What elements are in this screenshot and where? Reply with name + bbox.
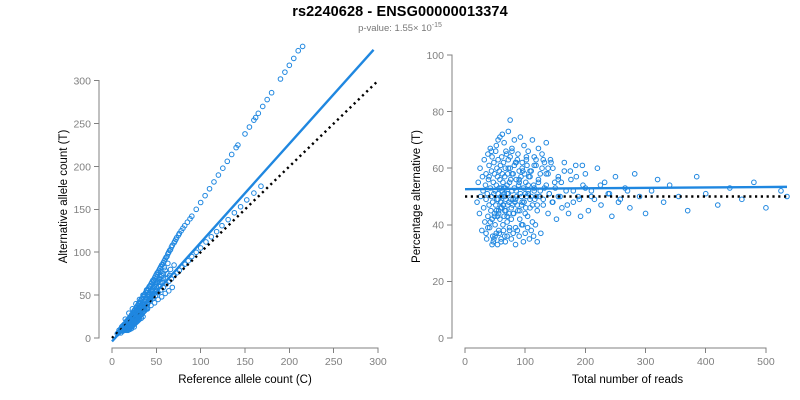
data-point <box>481 206 486 211</box>
data-point <box>287 63 292 68</box>
data-point <box>541 197 546 202</box>
y-tick-label: 200 <box>73 161 91 173</box>
data-point <box>523 191 528 196</box>
data-point <box>524 155 529 160</box>
data-point <box>209 235 214 240</box>
data-point <box>610 214 615 219</box>
data-point <box>752 180 757 185</box>
plot-area <box>112 0 378 341</box>
data-points <box>475 118 790 247</box>
x-tick-label: 300 <box>637 356 655 368</box>
data-point <box>551 166 556 171</box>
fit-line <box>465 187 787 189</box>
x-tick-label: 0 <box>462 356 468 368</box>
x-axis-line <box>465 348 766 353</box>
data-point <box>232 210 237 215</box>
data-point <box>583 172 588 177</box>
data-point <box>501 223 506 228</box>
data-point <box>204 240 209 245</box>
scatter-plot-right: 0100200300400500020406080100Total number… <box>400 0 800 400</box>
data-point <box>198 246 203 251</box>
y-tick-label: 60 <box>432 163 444 175</box>
data-point <box>556 177 561 182</box>
data-point <box>269 90 274 95</box>
panel-reference-vs-alternative: 050100150200250300050100150200250300Refe… <box>0 0 400 400</box>
y-tick-label: 100 <box>426 50 444 62</box>
x-tick-label: 0 <box>109 356 115 368</box>
x-tick-label: 100 <box>192 356 210 368</box>
data-point <box>628 206 633 211</box>
y-axis-title: Percentage alternative (T) <box>411 130 423 263</box>
data-point <box>291 56 296 61</box>
y-axis-title: Alternative allele count (T) <box>58 130 70 264</box>
data-point <box>484 197 489 202</box>
figure-root: rs2240628 - ENSG00000013374 p-value: 1.5… <box>0 0 800 400</box>
x-axis-title: Total number of reads <box>572 374 683 386</box>
y-axis-line <box>447 55 452 338</box>
data-point <box>504 149 509 154</box>
data-point <box>518 135 523 140</box>
data-point <box>649 189 654 194</box>
data-point <box>521 239 526 244</box>
x-tick-label: 100 <box>516 356 534 368</box>
data-point <box>475 200 480 205</box>
data-point <box>221 166 226 171</box>
data-point <box>492 160 497 165</box>
data-point <box>243 132 248 137</box>
data-point <box>529 228 534 233</box>
data-point <box>568 169 573 174</box>
data-point <box>571 200 576 205</box>
y-tick-label: 50 <box>79 290 91 302</box>
data-point <box>602 180 607 185</box>
data-point <box>535 203 540 208</box>
data-point <box>499 237 504 242</box>
data-point <box>252 191 257 196</box>
data-point <box>595 166 600 171</box>
x-tick-label: 250 <box>325 356 343 368</box>
data-point <box>509 217 514 222</box>
data-point <box>506 129 511 134</box>
data-point <box>540 166 545 171</box>
data-point <box>247 125 252 130</box>
data-point <box>655 177 660 182</box>
data-point <box>548 157 553 162</box>
data-point <box>565 203 570 208</box>
data-point <box>546 211 551 216</box>
data-point <box>296 48 301 53</box>
data-point <box>540 152 545 157</box>
data-point <box>170 285 175 290</box>
data-point <box>212 180 217 185</box>
x-axis-title: Reference allele count (C) <box>178 374 312 386</box>
data-point <box>560 206 565 211</box>
data-point <box>632 172 637 177</box>
data-point <box>300 44 305 49</box>
data-point <box>172 263 177 268</box>
data-point <box>507 225 512 230</box>
data-point <box>569 177 574 182</box>
data-point <box>499 155 504 160</box>
data-point <box>547 191 552 196</box>
data-point <box>715 203 720 208</box>
data-point <box>198 200 203 205</box>
data-point <box>259 184 264 189</box>
data-point <box>477 211 482 216</box>
data-point <box>517 217 522 222</box>
data-point <box>526 149 531 154</box>
x-tick-label: 300 <box>369 356 387 368</box>
data-point <box>535 239 540 244</box>
data-point <box>490 242 495 247</box>
data-point <box>226 217 231 222</box>
data-point <box>238 204 243 209</box>
data-point <box>544 140 549 145</box>
y-tick-label: 40 <box>432 220 444 232</box>
data-point <box>613 174 618 179</box>
data-point <box>265 97 270 102</box>
x-tick-label: 150 <box>236 356 254 368</box>
data-point <box>207 186 212 191</box>
data-point <box>225 159 230 164</box>
data-point <box>530 138 535 143</box>
data-point <box>256 111 261 116</box>
data-point <box>536 146 541 151</box>
data-point <box>194 207 199 212</box>
y-tick-label: 150 <box>73 204 91 216</box>
data-point <box>486 214 491 219</box>
data-point <box>327 3 332 8</box>
data-point <box>578 214 583 219</box>
panel-percentage-vs-reads: 0100200300400500020406080100Total number… <box>400 0 800 400</box>
data-point <box>501 160 506 165</box>
data-point <box>484 231 489 236</box>
data-point <box>485 191 490 196</box>
data-point <box>510 146 515 151</box>
data-point <box>566 211 571 216</box>
data-point <box>525 163 530 168</box>
data-point <box>685 208 690 213</box>
data-point <box>542 160 547 165</box>
scatter-plot-left: 050100150200250300050100150200250300Refe… <box>0 0 400 400</box>
y-tick-label: 0 <box>438 333 444 345</box>
data-point <box>278 77 283 82</box>
data-point <box>490 155 495 160</box>
y-tick-label: 80 <box>432 106 444 118</box>
data-point <box>703 191 708 196</box>
data-point <box>505 220 510 225</box>
data-point <box>166 261 171 266</box>
data-point <box>535 208 540 213</box>
data-point <box>522 143 527 148</box>
data-point <box>493 223 498 228</box>
data-point <box>501 180 506 185</box>
data-point <box>527 237 532 242</box>
data-point <box>476 180 481 185</box>
data-point <box>599 203 604 208</box>
data-point <box>598 183 603 188</box>
data-point <box>562 160 567 165</box>
data-point <box>520 160 525 165</box>
data-point <box>168 267 173 272</box>
y-tick-label: 300 <box>73 76 91 88</box>
data-point <box>491 239 496 244</box>
data-point <box>480 228 485 233</box>
plot-area <box>465 118 789 247</box>
data-point <box>484 237 489 242</box>
data-point <box>495 242 500 247</box>
data-point <box>483 220 488 225</box>
fit-line <box>112 50 374 342</box>
data-point <box>260 104 265 109</box>
data-point <box>508 118 513 123</box>
data-point <box>244 198 249 203</box>
data-point <box>318 17 323 22</box>
data-point <box>573 163 578 168</box>
data-point <box>214 229 219 234</box>
data-point <box>482 157 487 162</box>
x-tick-label: 400 <box>697 356 715 368</box>
data-point <box>562 169 567 174</box>
data-point <box>203 193 208 198</box>
data-point <box>494 143 499 148</box>
data-point <box>574 174 579 179</box>
data-point <box>487 174 492 179</box>
y-tick-label: 250 <box>73 118 91 130</box>
data-point <box>229 152 234 157</box>
data-point <box>764 206 769 211</box>
data-point <box>531 234 536 239</box>
data-point <box>518 191 523 196</box>
data-point <box>513 242 518 247</box>
data-point <box>516 152 521 157</box>
x-tick-label: 200 <box>281 356 299 368</box>
data-point <box>643 211 648 216</box>
x-tick-label: 200 <box>577 356 595 368</box>
data-point <box>580 163 585 168</box>
data-point <box>488 146 493 151</box>
data-point <box>523 231 528 236</box>
data-point <box>497 231 502 236</box>
data-point <box>517 234 522 239</box>
x-tick-label: 500 <box>757 356 775 368</box>
data-point <box>740 197 745 202</box>
data-point <box>546 166 551 171</box>
data-point <box>779 189 784 194</box>
data-point <box>478 166 483 171</box>
data-point <box>502 140 507 145</box>
data-point <box>541 157 546 162</box>
data-point <box>512 138 517 143</box>
data-point <box>478 194 483 199</box>
y-tick-label: 100 <box>73 247 91 259</box>
data-point <box>554 217 559 222</box>
x-tick-label: 50 <box>150 356 162 368</box>
data-point <box>533 223 538 228</box>
data-point <box>694 174 699 179</box>
data-point <box>586 208 591 213</box>
data-point <box>483 183 488 188</box>
data-point <box>309 31 314 36</box>
y-tick-label: 20 <box>432 276 444 288</box>
data-point <box>539 231 544 236</box>
data-point <box>538 172 543 177</box>
data-point <box>577 197 582 202</box>
data-point <box>493 203 498 208</box>
data-point <box>536 180 541 185</box>
data-point <box>511 231 516 236</box>
data-point <box>501 228 506 233</box>
data-point <box>283 70 288 75</box>
y-tick-label: 0 <box>85 333 91 345</box>
data-point <box>541 203 546 208</box>
data-point <box>216 173 221 178</box>
data-point <box>220 223 225 228</box>
data-point <box>509 237 514 242</box>
data-point <box>508 177 513 182</box>
data-point <box>509 206 514 211</box>
data-point <box>661 200 666 205</box>
data-points <box>115 0 349 336</box>
data-point <box>487 163 492 168</box>
data-point <box>528 197 533 202</box>
